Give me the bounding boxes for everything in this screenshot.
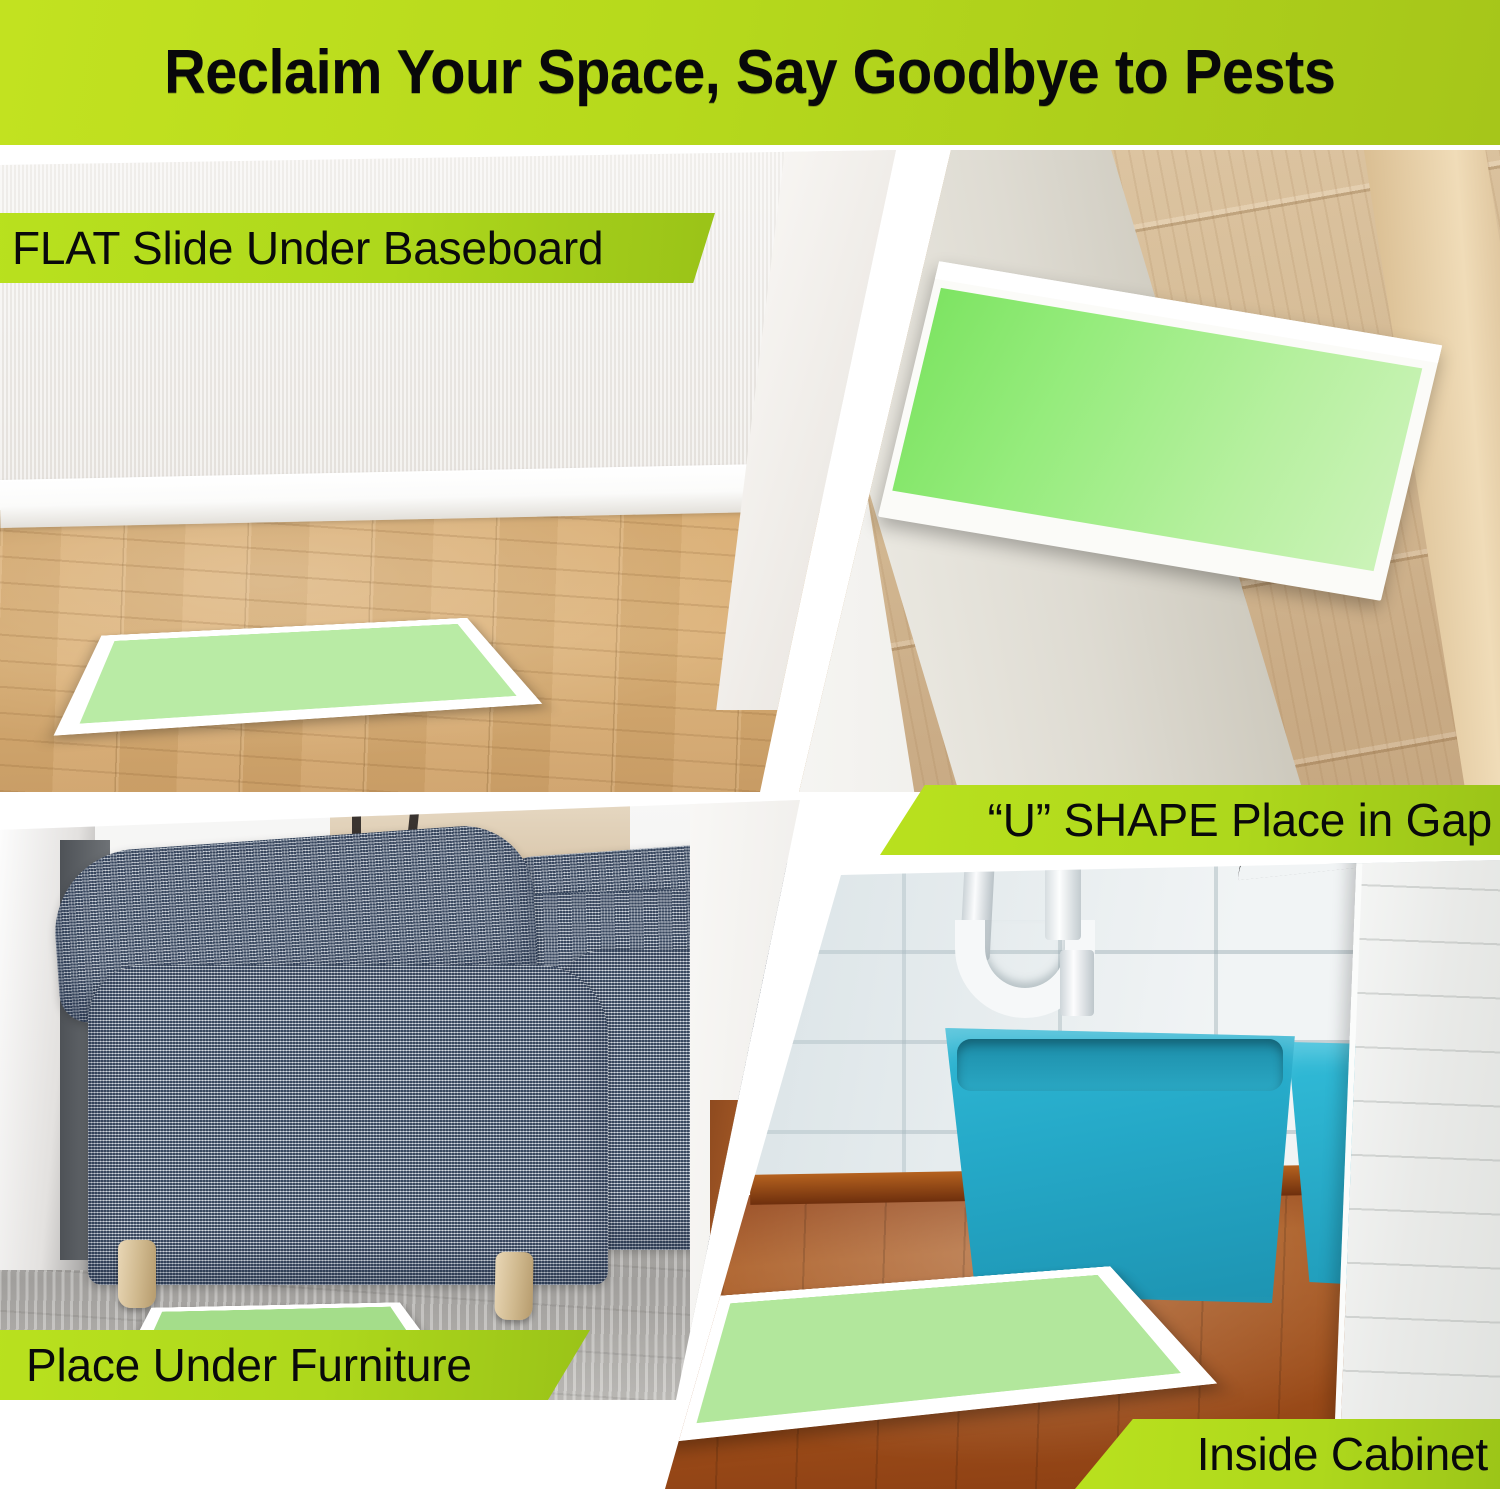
drain-pipe-outlet	[1060, 950, 1094, 1016]
label-flat-slide-under-baseboard: FLAT Slide Under Baseboard	[0, 213, 715, 283]
basin-primary	[930, 1028, 1310, 1303]
label-text: Inside Cabinet	[1197, 1427, 1488, 1481]
panel-place-under-furniture	[0, 800, 840, 1400]
sofa-leg-front-right	[494, 1252, 533, 1321]
label-inside-cabinet: Inside Cabinet	[1075, 1419, 1500, 1489]
infographic-page: Reclaim Your Space, Say Goodbye to Pests	[0, 0, 1500, 1489]
label-text: FLAT Slide Under Baseboard	[12, 221, 603, 275]
label-u-shape-place-in-gap: “U” SHAPE Place in Gap	[880, 785, 1500, 855]
label-text: Place Under Furniture	[26, 1338, 472, 1392]
sofa-leg-front-left	[118, 1240, 156, 1308]
sofa-armrest-left	[88, 965, 608, 1285]
label-place-under-furniture: Place Under Furniture	[0, 1330, 590, 1400]
header-banner: Reclaim Your Space, Say Goodbye to Pests	[0, 0, 1500, 145]
page-title: Reclaim Your Space, Say Goodbye to Pests	[164, 37, 1335, 108]
label-text: “U” SHAPE Place in Gap	[988, 793, 1492, 847]
cabinet-door	[1333, 838, 1500, 1486]
scene-sofa	[0, 800, 840, 1400]
